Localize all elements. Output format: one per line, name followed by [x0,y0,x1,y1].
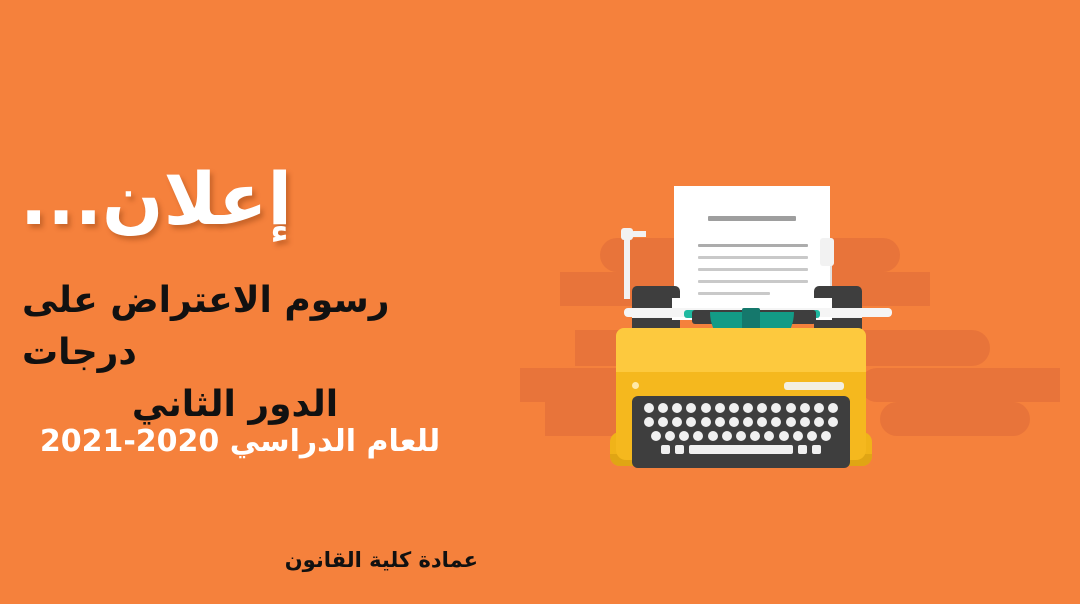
academic-year-label: للعام الدراسي 2020-2021 [10,424,480,459]
key [686,403,696,413]
key [722,431,732,441]
key [715,417,725,427]
key [675,445,684,454]
paper-text-line [698,256,808,259]
subtitle: رسوم الاعتراض على درجات الدور الثاني [20,275,480,432]
key [786,417,796,427]
key [658,417,668,427]
key [729,417,739,427]
key [672,417,682,427]
announcement-poster: إعلان... رسوم الاعتراض على درجات الدور ا… [0,0,1080,604]
key [771,403,781,413]
key [644,417,654,427]
key [651,431,661,441]
indicator-dot [632,382,639,389]
key [661,445,670,454]
body-slot [784,382,844,390]
key [812,445,821,454]
key [679,431,689,441]
key [764,431,774,441]
keyboard-row [638,403,844,413]
key [743,403,753,413]
paper-text-line [698,244,808,247]
keyboard-row [638,431,844,441]
key [779,431,789,441]
typewriter-body-top [616,328,866,372]
key [672,403,682,413]
text-block: إعلان... رسوم الاعتراض على درجات الدور ا… [0,0,500,604]
key [665,431,675,441]
key [658,403,668,413]
key [736,431,746,441]
key [814,403,824,413]
spacebar-key [689,445,793,454]
key [800,403,810,413]
key [644,403,654,413]
paper-text-line [698,292,770,295]
key [743,417,753,427]
roller-knob-right-small [820,238,834,266]
key [814,417,824,427]
key [771,417,781,427]
issuer-label: عمادة كلية القانون [285,548,478,572]
key [729,403,739,413]
key [798,445,807,454]
subtitle-line-1: رسوم الاعتراض على درجات [20,275,480,379]
page-title: إعلان... [20,163,480,235]
key [807,431,817,441]
key [828,403,838,413]
typewriter-keyboard [632,396,850,468]
typewriter-illustration [588,186,928,466]
key [693,431,703,441]
key [715,403,725,413]
paper-sheet [674,186,830,312]
key [828,417,838,427]
keyboard-row-spacebar [638,445,844,454]
key [686,417,696,427]
paper-text-line [698,280,808,283]
key [821,431,831,441]
key [701,417,711,427]
key [793,431,803,441]
key [800,417,810,427]
key [757,403,767,413]
keyboard-row [638,417,844,427]
key [708,431,718,441]
paper-heading-line [708,216,796,221]
key [757,417,767,427]
key [750,431,760,441]
paper-text-line [698,268,808,271]
key [786,403,796,413]
key [701,403,711,413]
